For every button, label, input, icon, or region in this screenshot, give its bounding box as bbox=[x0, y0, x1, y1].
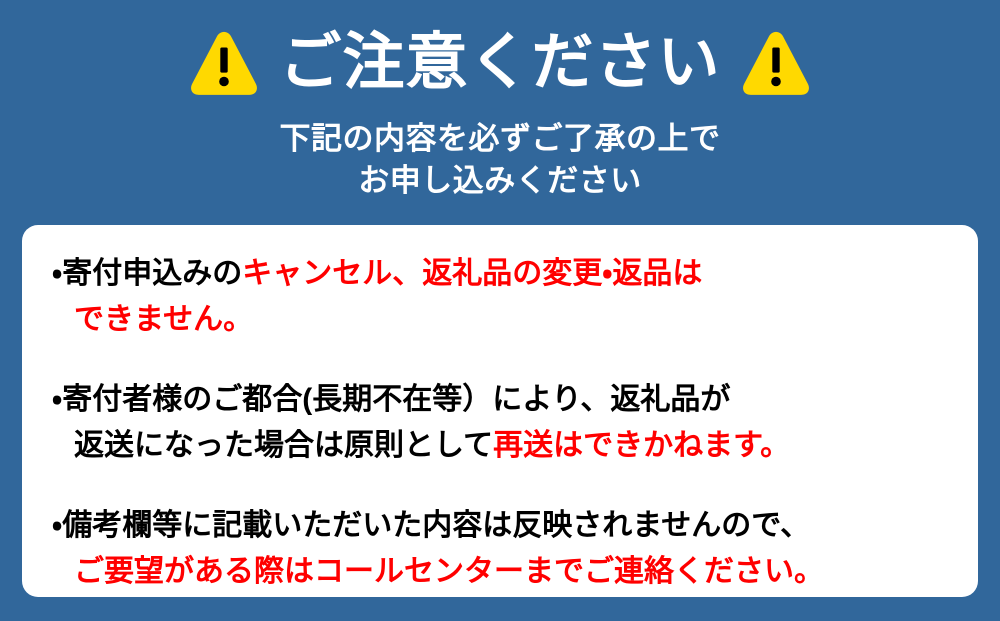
notice-text-emphasis: キャンセル、返礼品の変更・返品は bbox=[242, 257, 702, 290]
notice-item: ・寄付者様のご都合(長期不在等）により、返礼品が返送になった場合は原則として再送… bbox=[52, 377, 948, 469]
warning-triangle-icon-left bbox=[187, 26, 261, 100]
notice-text: ・寄付者様のご都合(長期不在等）により、返礼品が bbox=[52, 383, 730, 416]
title-row: ご注意ください bbox=[0, 26, 1000, 100]
notice-line: できません。 bbox=[52, 297, 948, 343]
warning-triangle-icon-right bbox=[739, 26, 813, 100]
notice-text: ・備考欄等に記載いただいた内容は反映されませんので、 bbox=[52, 509, 810, 542]
notice-text-emphasis: 再送はできかねます。 bbox=[493, 429, 790, 462]
subtitle-line-1: 下記の内容を必ずご了承の上で bbox=[0, 118, 1000, 160]
notice-text: 返送になった場合は原則として bbox=[74, 429, 493, 462]
notice-line: ・寄付申込みのキャンセル、返礼品の変更・返品は bbox=[52, 251, 948, 297]
notice-line: ・備考欄等に記載いただいた内容は反映されませんので、 bbox=[52, 503, 948, 549]
notice-item: ・寄付申込みのキャンセル、返礼品の変更・返品はできません。 bbox=[52, 251, 948, 343]
subtitle-line-2: お申し込みください bbox=[0, 160, 1000, 202]
notice-list: ・寄付申込みのキャンセル、返礼品の変更・返品はできません。・寄付者様のご都合(長… bbox=[52, 251, 948, 595]
subtitle: 下記の内容を必ずご了承の上で お申し込みください bbox=[0, 118, 1000, 202]
notice-card: ・寄付申込みのキャンセル、返礼品の変更・返品はできません。・寄付者様のご都合(長… bbox=[22, 225, 978, 597]
page-title: ご注意ください bbox=[279, 26, 720, 100]
notice-text-emphasis: できません。 bbox=[74, 303, 253, 336]
notice-line: ・寄付者様のご都合(長期不在等）により、返礼品が bbox=[52, 377, 948, 423]
notice-line: ご要望がある際はコールセンターまでご連絡ください。 bbox=[52, 549, 948, 595]
notice-banner: ご注意ください 下記の内容を必ずご了承の上で お申し込みください ・寄付申込みの… bbox=[0, 0, 1000, 621]
banner-header: ご注意ください 下記の内容を必ずご了承の上で お申し込みください bbox=[0, 0, 1000, 208]
notice-line: 返送になった場合は原則として再送はできかねます。 bbox=[52, 423, 948, 469]
notice-text-emphasis: ご要望がある際はコールセンターまでご連絡ください。 bbox=[74, 555, 824, 588]
notice-text: ・寄付申込みの bbox=[52, 257, 242, 290]
notice-item: ・備考欄等に記載いただいた内容は反映されませんので、ご要望がある際はコールセンタ… bbox=[52, 503, 948, 595]
